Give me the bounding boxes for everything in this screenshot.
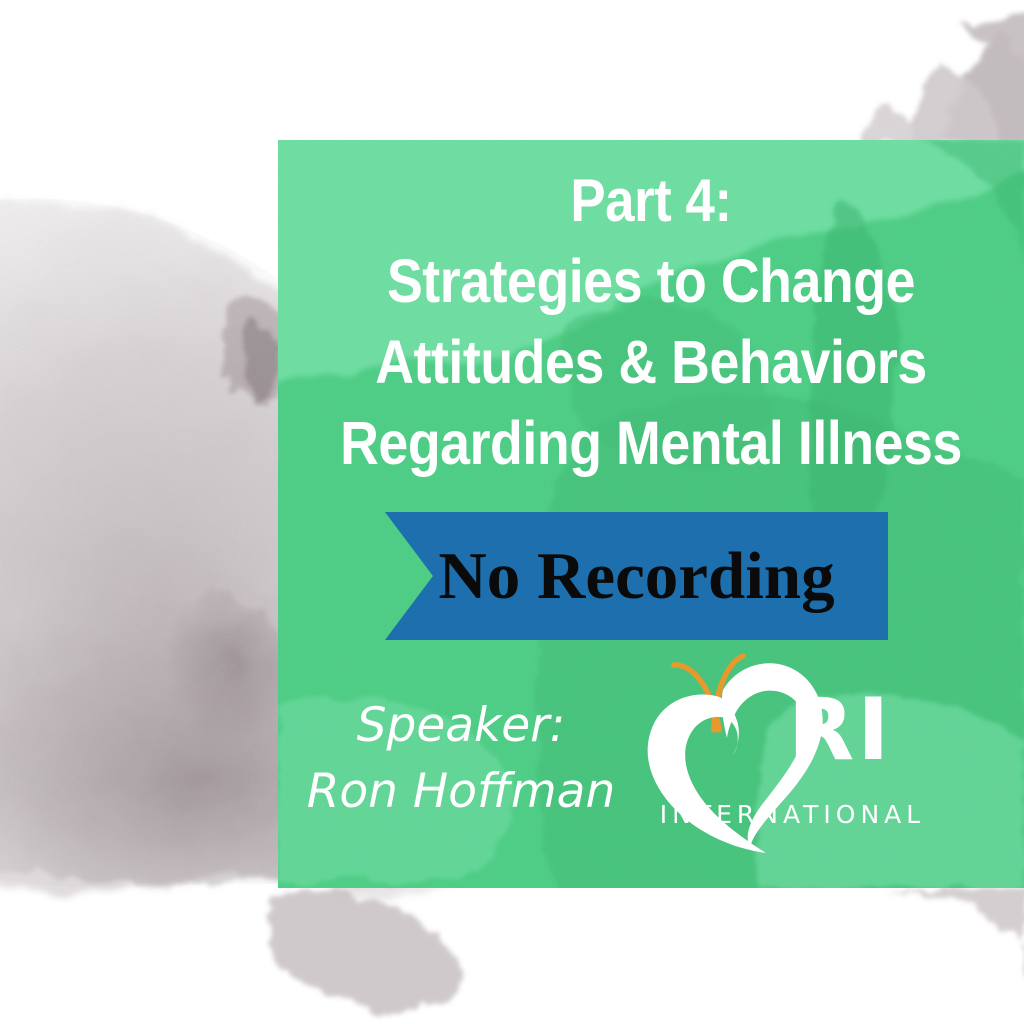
poster-title: Part 4: Strategies to Change Attitudes &…	[278, 160, 1024, 484]
logo-subtitle: INTERNATIONAL	[640, 800, 940, 830]
speaker-label: Speaker:	[296, 693, 626, 759]
ri-international-logo: RI INTERNATIONAL	[640, 648, 940, 860]
logo-wordmark: RI	[788, 687, 940, 773]
banner-label: No Recording	[385, 512, 888, 640]
speaker-block: Speaker: Ron Hoffman	[296, 693, 626, 825]
speaker-name: Ron Hoffman	[296, 759, 626, 825]
poster-canvas: Part 4: Strategies to Change Attitudes &…	[0, 0, 1024, 1024]
no-recording-banner: No Recording	[385, 512, 888, 640]
title-line-2: Strategies to Change	[323, 241, 979, 322]
title-line-4: Regarding Mental Illness	[323, 403, 979, 484]
title-line-3: Attitudes & Behaviors	[323, 322, 979, 403]
title-line-1: Part 4:	[323, 160, 979, 241]
